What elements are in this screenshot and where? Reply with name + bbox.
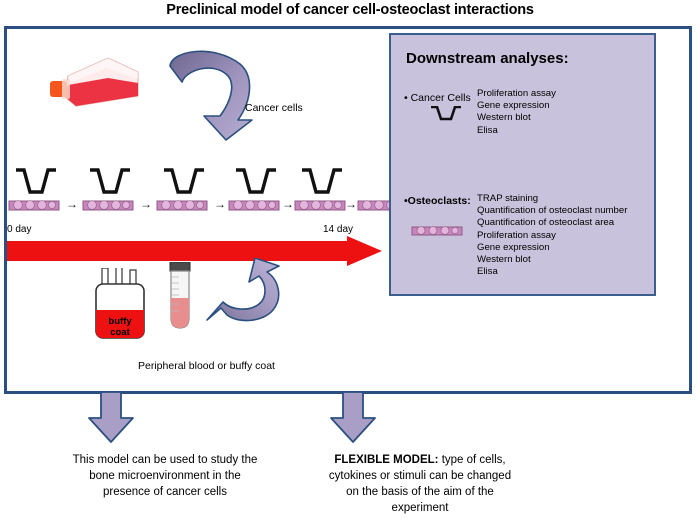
unit-arrow: → — [282, 198, 294, 210]
culture-well-icon — [162, 168, 206, 196]
osteoclast-cells-icon — [228, 198, 280, 212]
osteoclasts-bullet-label: •Osteoclasts: — [404, 195, 471, 207]
unit-arrow: → — [66, 198, 78, 210]
cancer-cells-curved-arrow — [168, 48, 264, 143]
coculture-unit — [82, 168, 138, 218]
centrifuge-tube-icon — [160, 262, 200, 332]
cancer-cells-bullet-label: • Cancer Cells — [404, 92, 471, 104]
timeline-start-label: 0 day — [7, 224, 31, 235]
cancer-cells-analysis-list: Proliferation assay Gene expression West… — [477, 88, 556, 137]
timeline-end-label: 14 day — [323, 224, 353, 235]
unit-arrow: → — [214, 198, 226, 210]
page-title: Preclinical model of cancer cell-osteocl… — [0, 2, 700, 18]
cancer-cells-arrow-label: Cancer cells — [245, 102, 303, 114]
coculture-unit — [8, 168, 64, 218]
culture-well-icon — [429, 106, 463, 122]
osteoclast-cells-icon — [411, 224, 463, 237]
unit-arrow: → — [345, 198, 357, 210]
caption-right-bold: FLEXIBLE MODEL: — [334, 454, 438, 466]
culture-well-icon — [234, 168, 278, 196]
osteoclast-cells-icon — [82, 198, 134, 212]
down-arrow-right — [330, 392, 376, 444]
coculture-unit — [228, 168, 284, 218]
down-arrow-left — [88, 392, 134, 444]
caption-right: FLEXIBLE MODEL: type of cells, cytokines… — [270, 452, 570, 516]
blood-bag-label: buffy coat — [96, 316, 144, 338]
coculture-unit — [294, 168, 350, 218]
osteoclast-cells-icon — [156, 198, 208, 212]
coculture-unit — [156, 168, 212, 218]
culture-well-icon — [88, 168, 132, 196]
culture-well-icon — [300, 168, 344, 196]
panel-heading: Downstream analyses: — [406, 50, 569, 67]
unit-arrow: → — [140, 198, 152, 210]
osteoclasts-analysis-list: TRAP staining Quantification of osteocla… — [477, 193, 627, 278]
culture-well-icon — [14, 168, 58, 196]
blood-caption: Peripheral blood or buffy coat — [138, 360, 275, 372]
culture-flask-icon — [46, 52, 140, 114]
blood-to-coculture-curved-arrow — [205, 258, 301, 338]
osteoclast-cells-icon — [8, 198, 60, 212]
osteoclast-cells-icon — [294, 198, 346, 212]
